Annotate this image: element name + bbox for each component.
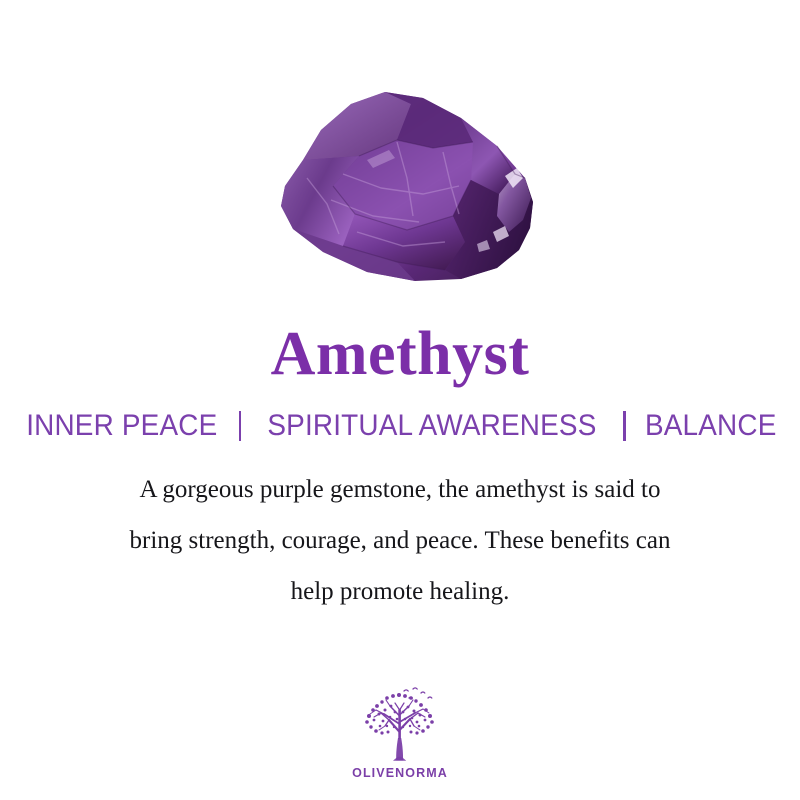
description-line: bring strength, courage, and peace. Thes…: [50, 515, 750, 566]
page-title: Amethyst: [0, 318, 800, 390]
description-paragraph: A gorgeous purple gemstone, the amethyst…: [50, 464, 750, 617]
keyword-separator-icon: [623, 411, 626, 441]
brand-logo: OLIVENORMA: [0, 686, 800, 780]
hero-image-area: [0, 0, 800, 318]
keyword-balance: BALANCE: [644, 409, 776, 443]
brand-name: OLIVENORMA: [352, 766, 448, 780]
keyword-list: INNER PEACE SPIRITUAL AWARENESS BALANCE: [0, 408, 800, 444]
keyword-spiritual-awareness: SPIRITUAL AWARENESS: [267, 409, 596, 443]
description-line: help promote healing.: [50, 566, 750, 617]
tree-of-life-icon: [357, 686, 443, 764]
keyword-inner-peace: INNER PEACE: [26, 409, 217, 443]
keyword-separator-icon: [239, 411, 242, 441]
amethyst-crystal-icon: [247, 82, 559, 290]
amethyst-crystal-image: [247, 82, 559, 290]
amethyst-info-card: Amethyst INNER PEACE SPIRITUAL AWARENESS…: [0, 0, 800, 800]
description-line: A gorgeous purple gemstone, the amethyst…: [50, 464, 750, 515]
